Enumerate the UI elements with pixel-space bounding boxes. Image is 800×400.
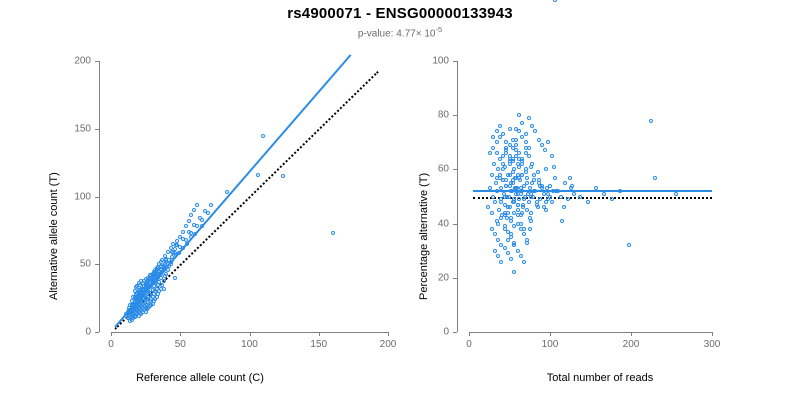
data-point — [674, 192, 678, 196]
data-point — [522, 197, 526, 201]
left-x-tick — [250, 332, 251, 336]
data-point — [553, 176, 557, 180]
data-point — [602, 192, 606, 196]
data-point — [517, 113, 521, 117]
left-x-tick — [319, 332, 320, 336]
data-point — [185, 242, 189, 246]
data-point — [520, 157, 524, 161]
data-point — [536, 170, 540, 174]
right-y-tick — [453, 224, 457, 225]
data-point — [506, 238, 510, 242]
data-point — [493, 249, 497, 253]
panel-reference-vs-alternative: 050100150200050100150200Reference allele… — [0, 0, 400, 400]
data-point — [519, 254, 523, 258]
data-point — [511, 178, 515, 182]
right-x-tick-label: 100 — [542, 339, 559, 350]
data-point — [516, 173, 520, 177]
data-point — [527, 116, 531, 120]
data-point — [504, 151, 508, 155]
data-point — [535, 200, 539, 204]
data-point — [496, 222, 500, 226]
data-point — [503, 227, 507, 231]
data-point — [256, 173, 260, 177]
data-point — [559, 195, 563, 199]
data-point — [610, 197, 614, 201]
right-x-tick-label: 200 — [623, 339, 640, 350]
data-point — [126, 316, 130, 320]
data-point — [537, 138, 541, 142]
data-point — [522, 260, 526, 264]
data-point — [525, 208, 529, 212]
left-y-tick — [95, 197, 99, 198]
data-point — [627, 243, 631, 247]
data-point — [499, 200, 503, 204]
data-point — [200, 218, 204, 222]
data-point — [493, 232, 497, 236]
data-point — [495, 140, 499, 144]
data-point — [532, 173, 536, 177]
data-point — [501, 167, 505, 171]
data-point — [653, 176, 657, 180]
data-point — [542, 192, 546, 196]
right-y-axis-title: Percentage alternative (T) — [418, 173, 430, 300]
data-point — [544, 167, 548, 171]
data-point — [513, 186, 517, 190]
left-x-axis-title: Reference allele count (C) — [0, 372, 400, 384]
right-x-tick — [469, 332, 470, 336]
data-point — [528, 227, 532, 231]
data-point — [554, 189, 558, 193]
data-point — [501, 132, 505, 136]
data-point — [486, 205, 490, 209]
data-point — [187, 219, 191, 223]
data-point — [545, 186, 549, 190]
data-point — [527, 200, 531, 204]
data-point — [504, 140, 508, 144]
data-point — [540, 143, 544, 147]
data-point — [162, 279, 166, 283]
data-point — [514, 148, 518, 152]
data-point — [543, 148, 547, 152]
data-point — [578, 195, 582, 199]
data-point — [511, 146, 515, 150]
data-point — [496, 254, 500, 258]
data-point — [492, 162, 496, 166]
left-x-tick — [180, 332, 181, 336]
right-y-tick-label: 80 — [417, 110, 449, 121]
right-x-tick — [550, 332, 551, 336]
data-point — [491, 135, 495, 139]
data-point — [520, 211, 524, 215]
right-x-tick — [712, 332, 713, 336]
data-point — [519, 186, 523, 190]
data-point — [508, 184, 512, 188]
data-point — [520, 121, 524, 125]
data-point — [512, 243, 516, 247]
data-point — [177, 251, 181, 255]
data-point — [495, 189, 499, 193]
data-point — [209, 203, 213, 207]
right-y-axis-line — [457, 61, 458, 332]
data-point — [509, 257, 513, 261]
left-x-tick-label: 0 — [108, 339, 114, 350]
left-y-tick-label: 50 — [59, 259, 91, 270]
data-point — [184, 224, 188, 228]
data-point — [261, 134, 265, 138]
data-point — [495, 151, 499, 155]
data-point — [505, 195, 509, 199]
left-x-tick-label: 50 — [175, 339, 186, 350]
data-point — [570, 184, 574, 188]
left-y-tick — [95, 264, 99, 265]
left-y-tick-label: 200 — [59, 56, 91, 67]
data-point — [562, 205, 566, 209]
data-point — [499, 260, 503, 264]
data-point — [560, 219, 564, 223]
left-y-tick — [95, 332, 99, 333]
data-point — [508, 127, 512, 131]
data-point — [509, 232, 513, 236]
left-y-tick-label: 100 — [59, 191, 91, 202]
data-point — [488, 186, 492, 190]
data-point — [498, 124, 502, 128]
data-point — [544, 208, 548, 212]
right-y-tick-label: 100 — [417, 56, 449, 67]
left-y-tick — [95, 61, 99, 62]
data-point — [499, 186, 503, 190]
data-point — [491, 195, 495, 199]
right-x-axis-title: Total number of reads — [400, 372, 800, 384]
data-point — [133, 302, 137, 306]
data-point — [522, 232, 526, 236]
left-x-tick-label: 100 — [241, 339, 258, 350]
data-point — [281, 174, 285, 178]
data-point — [525, 176, 529, 180]
data-point — [496, 167, 500, 171]
data-point — [206, 211, 210, 215]
right-x-tick-label: 0 — [466, 339, 472, 350]
data-point — [532, 178, 536, 182]
left-y-axis-line — [99, 61, 100, 332]
data-point — [528, 216, 532, 220]
data-point — [524, 140, 528, 144]
left-x-tick — [388, 332, 389, 336]
data-point — [517, 129, 521, 133]
data-point — [155, 276, 159, 280]
data-point — [508, 173, 512, 177]
data-point — [490, 211, 494, 215]
data-point — [517, 165, 521, 169]
right-y-tick-label: 0 — [417, 327, 449, 338]
right-x-tick — [631, 332, 632, 336]
right-y-tick — [453, 169, 457, 170]
data-point — [195, 224, 199, 228]
data-point — [189, 213, 193, 217]
data-point — [536, 205, 540, 209]
left-x-tick-label: 200 — [380, 339, 397, 350]
data-point — [514, 154, 518, 158]
right-y-tick — [453, 332, 457, 333]
data-point — [550, 200, 554, 204]
data-point — [516, 192, 520, 196]
data-point — [181, 246, 185, 250]
figure-root: rs4900071 - ENSG00000133943 p-value: 4.7… — [0, 0, 800, 400]
data-point — [516, 203, 520, 207]
data-point — [516, 213, 520, 217]
data-point — [525, 241, 529, 245]
data-point — [497, 208, 501, 212]
data-point — [511, 138, 515, 142]
left-x-tick — [111, 332, 112, 336]
data-point — [527, 154, 531, 158]
left-x-tick-label: 150 — [310, 339, 327, 350]
left-y-tick-label: 0 — [59, 327, 91, 338]
data-point — [519, 222, 523, 226]
right-x-axis-line — [469, 332, 712, 333]
data-point — [225, 190, 229, 194]
data-point — [162, 287, 166, 291]
data-point — [503, 246, 507, 250]
data-point — [517, 197, 521, 201]
data-point — [200, 224, 204, 228]
left-y-tick-label: 150 — [59, 123, 91, 134]
data-point — [546, 140, 550, 144]
data-point — [550, 154, 554, 158]
data-point — [508, 157, 512, 161]
data-point — [130, 306, 134, 310]
data-point — [563, 181, 567, 185]
data-point — [195, 203, 199, 207]
data-point — [524, 132, 528, 136]
data-point — [512, 270, 516, 274]
data-point — [193, 232, 197, 236]
data-point — [533, 129, 537, 133]
data-point — [501, 162, 505, 166]
data-point — [512, 224, 516, 228]
data-point — [173, 276, 177, 280]
data-point — [495, 176, 499, 180]
right-x-tick-label: 300 — [704, 339, 721, 350]
data-point — [527, 146, 531, 150]
right-y-tick — [453, 115, 457, 116]
data-point — [506, 251, 510, 255]
left-y-tick — [95, 129, 99, 130]
data-point — [514, 127, 518, 131]
data-point — [192, 208, 196, 212]
right-y-tick — [453, 278, 457, 279]
data-point — [516, 249, 520, 253]
data-point — [552, 165, 556, 169]
data-point — [508, 162, 512, 166]
left-y-axis-title: Alternative allele count (T) — [48, 172, 60, 300]
data-point — [494, 181, 498, 185]
data-point — [490, 173, 494, 177]
data-point — [181, 230, 185, 234]
data-point — [162, 268, 166, 272]
data-point — [495, 129, 499, 133]
data-point — [503, 213, 507, 217]
data-point — [509, 216, 513, 220]
right-y-tick — [453, 61, 457, 62]
data-point — [546, 197, 550, 201]
data-point — [491, 146, 495, 150]
data-point — [501, 178, 505, 182]
data-point — [524, 151, 528, 155]
data-point — [537, 181, 541, 185]
data-point — [530, 124, 534, 128]
data-point — [529, 192, 533, 196]
data-point — [530, 162, 534, 166]
data-point — [498, 157, 502, 161]
data-point — [594, 186, 598, 190]
data-point — [164, 272, 168, 276]
data-point — [506, 205, 510, 209]
data-point — [189, 235, 193, 239]
data-point — [568, 176, 572, 180]
data-point — [525, 181, 529, 185]
data-point — [566, 197, 570, 201]
data-point — [529, 211, 533, 215]
data-point — [649, 119, 653, 123]
data-point — [166, 268, 170, 272]
data-point — [493, 200, 497, 204]
data-point — [524, 167, 528, 171]
data-point — [488, 151, 492, 155]
data-point — [496, 238, 500, 242]
data-point — [127, 310, 131, 314]
data-point — [572, 192, 576, 196]
data-point — [521, 203, 525, 207]
data-point — [138, 295, 142, 299]
data-point — [499, 216, 503, 220]
data-point — [331, 231, 335, 235]
data-point — [586, 200, 590, 204]
data-point — [504, 146, 508, 150]
data-point — [169, 262, 173, 266]
data-point — [553, 0, 557, 2]
data-point — [509, 189, 513, 193]
panel-reads-vs-percentage: 0100200300020406080100Total number of re… — [400, 0, 800, 400]
data-point — [490, 227, 494, 231]
data-point — [522, 227, 526, 231]
data-point — [146, 285, 150, 289]
data-point — [512, 197, 516, 201]
data-point — [618, 189, 622, 193]
